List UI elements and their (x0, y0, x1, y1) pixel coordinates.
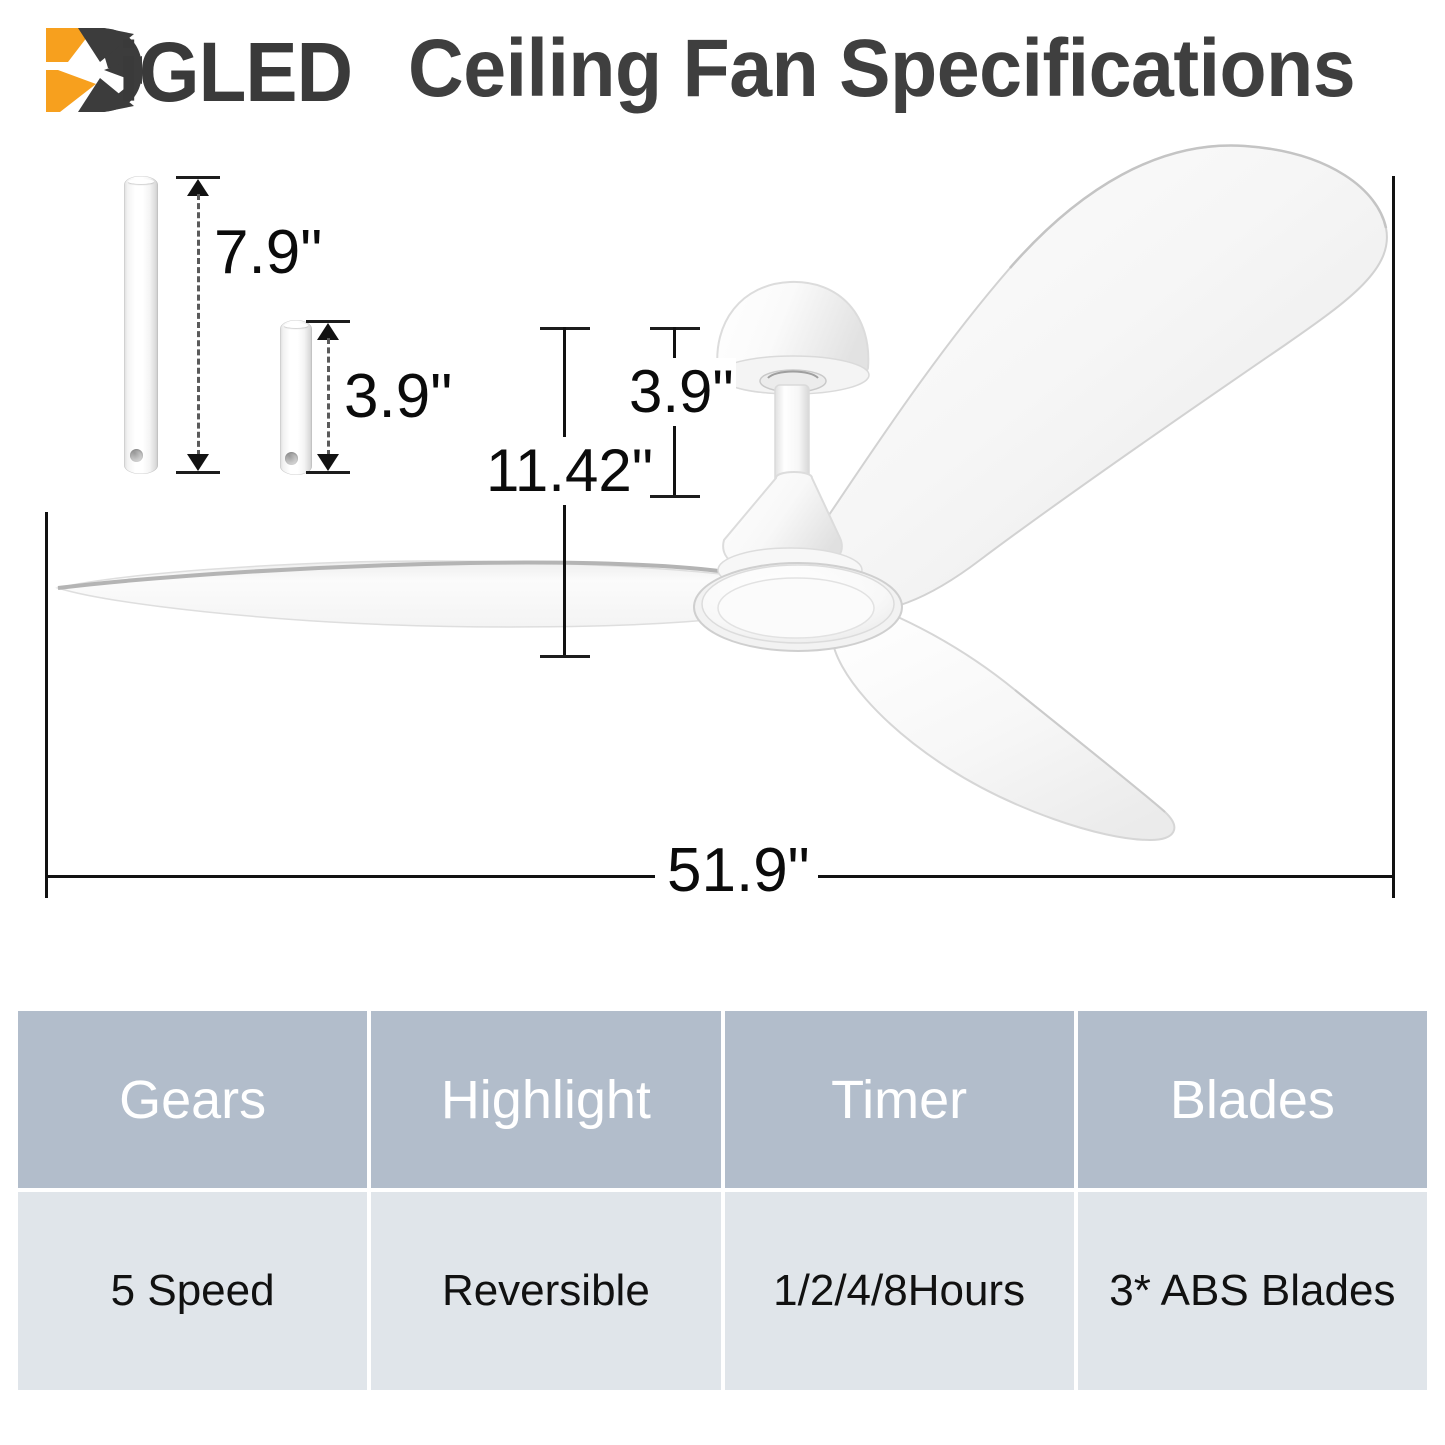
table-value-timer: 1/2/4/8Hours (725, 1192, 1074, 1390)
table-value-blades: 3* ABS Blades (1078, 1192, 1427, 1390)
dim-line-right-segment (818, 875, 1395, 878)
product-spec-sheet: iGLED Ceiling Fan Specifications 7.9" 3.… (0, 0, 1445, 1445)
table-header-blades: Blades (1078, 1011, 1427, 1188)
table-value-row: 5 Speed Reversible 1/2/4/8Hours 3* ABS B… (18, 1192, 1427, 1390)
dim-line-left-segment (45, 875, 655, 878)
table-value-gears: 5 Speed (18, 1192, 367, 1390)
blade-upper-right (809, 145, 1387, 609)
blade-left (58, 561, 732, 627)
dimension-label-51-9: 51.9" (667, 840, 810, 902)
fan-downrod (775, 385, 809, 485)
table-header-row: Gears Highlight Timer Blades (18, 1011, 1427, 1188)
specifications-table: Gears Highlight Timer Blades 5 Speed Rev… (18, 1011, 1427, 1390)
ceiling-canopy (717, 282, 869, 394)
dim-cap-bottom (650, 495, 700, 498)
led-light-kit (694, 563, 902, 651)
ceiling-fan-illustration (0, 0, 1445, 960)
dimension-label-11-42: 11.42" (484, 437, 655, 505)
table-value-highlight: Reversible (371, 1192, 720, 1390)
table-header-gears: Gears (18, 1011, 367, 1188)
dim-cap-bottom (540, 655, 590, 658)
dim-ext-line-right (1392, 176, 1395, 898)
table-header-timer: Timer (725, 1011, 1074, 1188)
dim-ext-line-left (45, 512, 48, 898)
table-header-highlight: Highlight (371, 1011, 720, 1188)
blade-lower-right (832, 599, 1175, 840)
dimension-label-3-9-drop: 3.9" (627, 358, 736, 426)
